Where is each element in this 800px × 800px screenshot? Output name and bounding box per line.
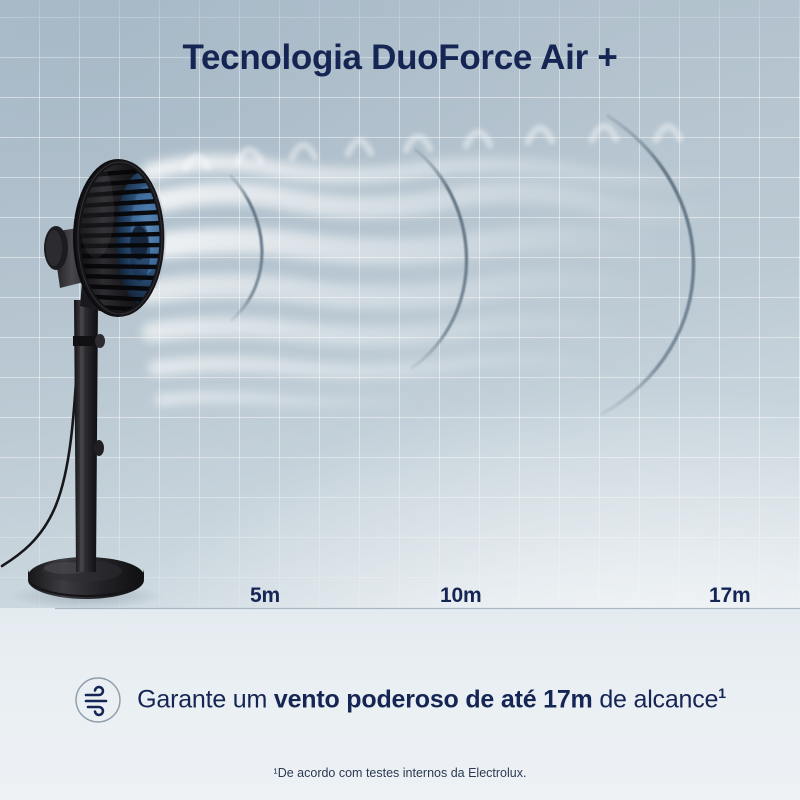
distance-marker-10m: 10m [440, 584, 481, 608]
caption-tail: de alcance [593, 686, 719, 714]
footnote: ¹De acordo com testes internos da Electr… [0, 766, 800, 780]
pedestal-fan [2, 159, 168, 599]
caption-footnote-marker: 1 [718, 685, 726, 701]
fan-pole [73, 300, 105, 572]
airflow-arc-17m [602, 116, 694, 414]
caption-text: Garante um vento poderoso de até 17m de … [137, 685, 726, 714]
airflow-streaks [146, 163, 730, 403]
feature-caption: Garante um vento poderoso de até 17m de … [0, 676, 800, 724]
distance-marker-17m: 17m [709, 584, 750, 608]
caption-highlight: vento poderoso de até 17m [274, 686, 593, 714]
distance-marker-5m: 5m [250, 584, 280, 608]
power-cord [2, 350, 78, 566]
caption-lead: Garante um [137, 686, 274, 714]
product-feature-poster: Tecnologia DuoForce Air + 5m 10m 17m Gar… [0, 0, 800, 800]
wind-icon [74, 676, 122, 724]
page-title: Tecnologia DuoForce Air + [0, 38, 800, 78]
